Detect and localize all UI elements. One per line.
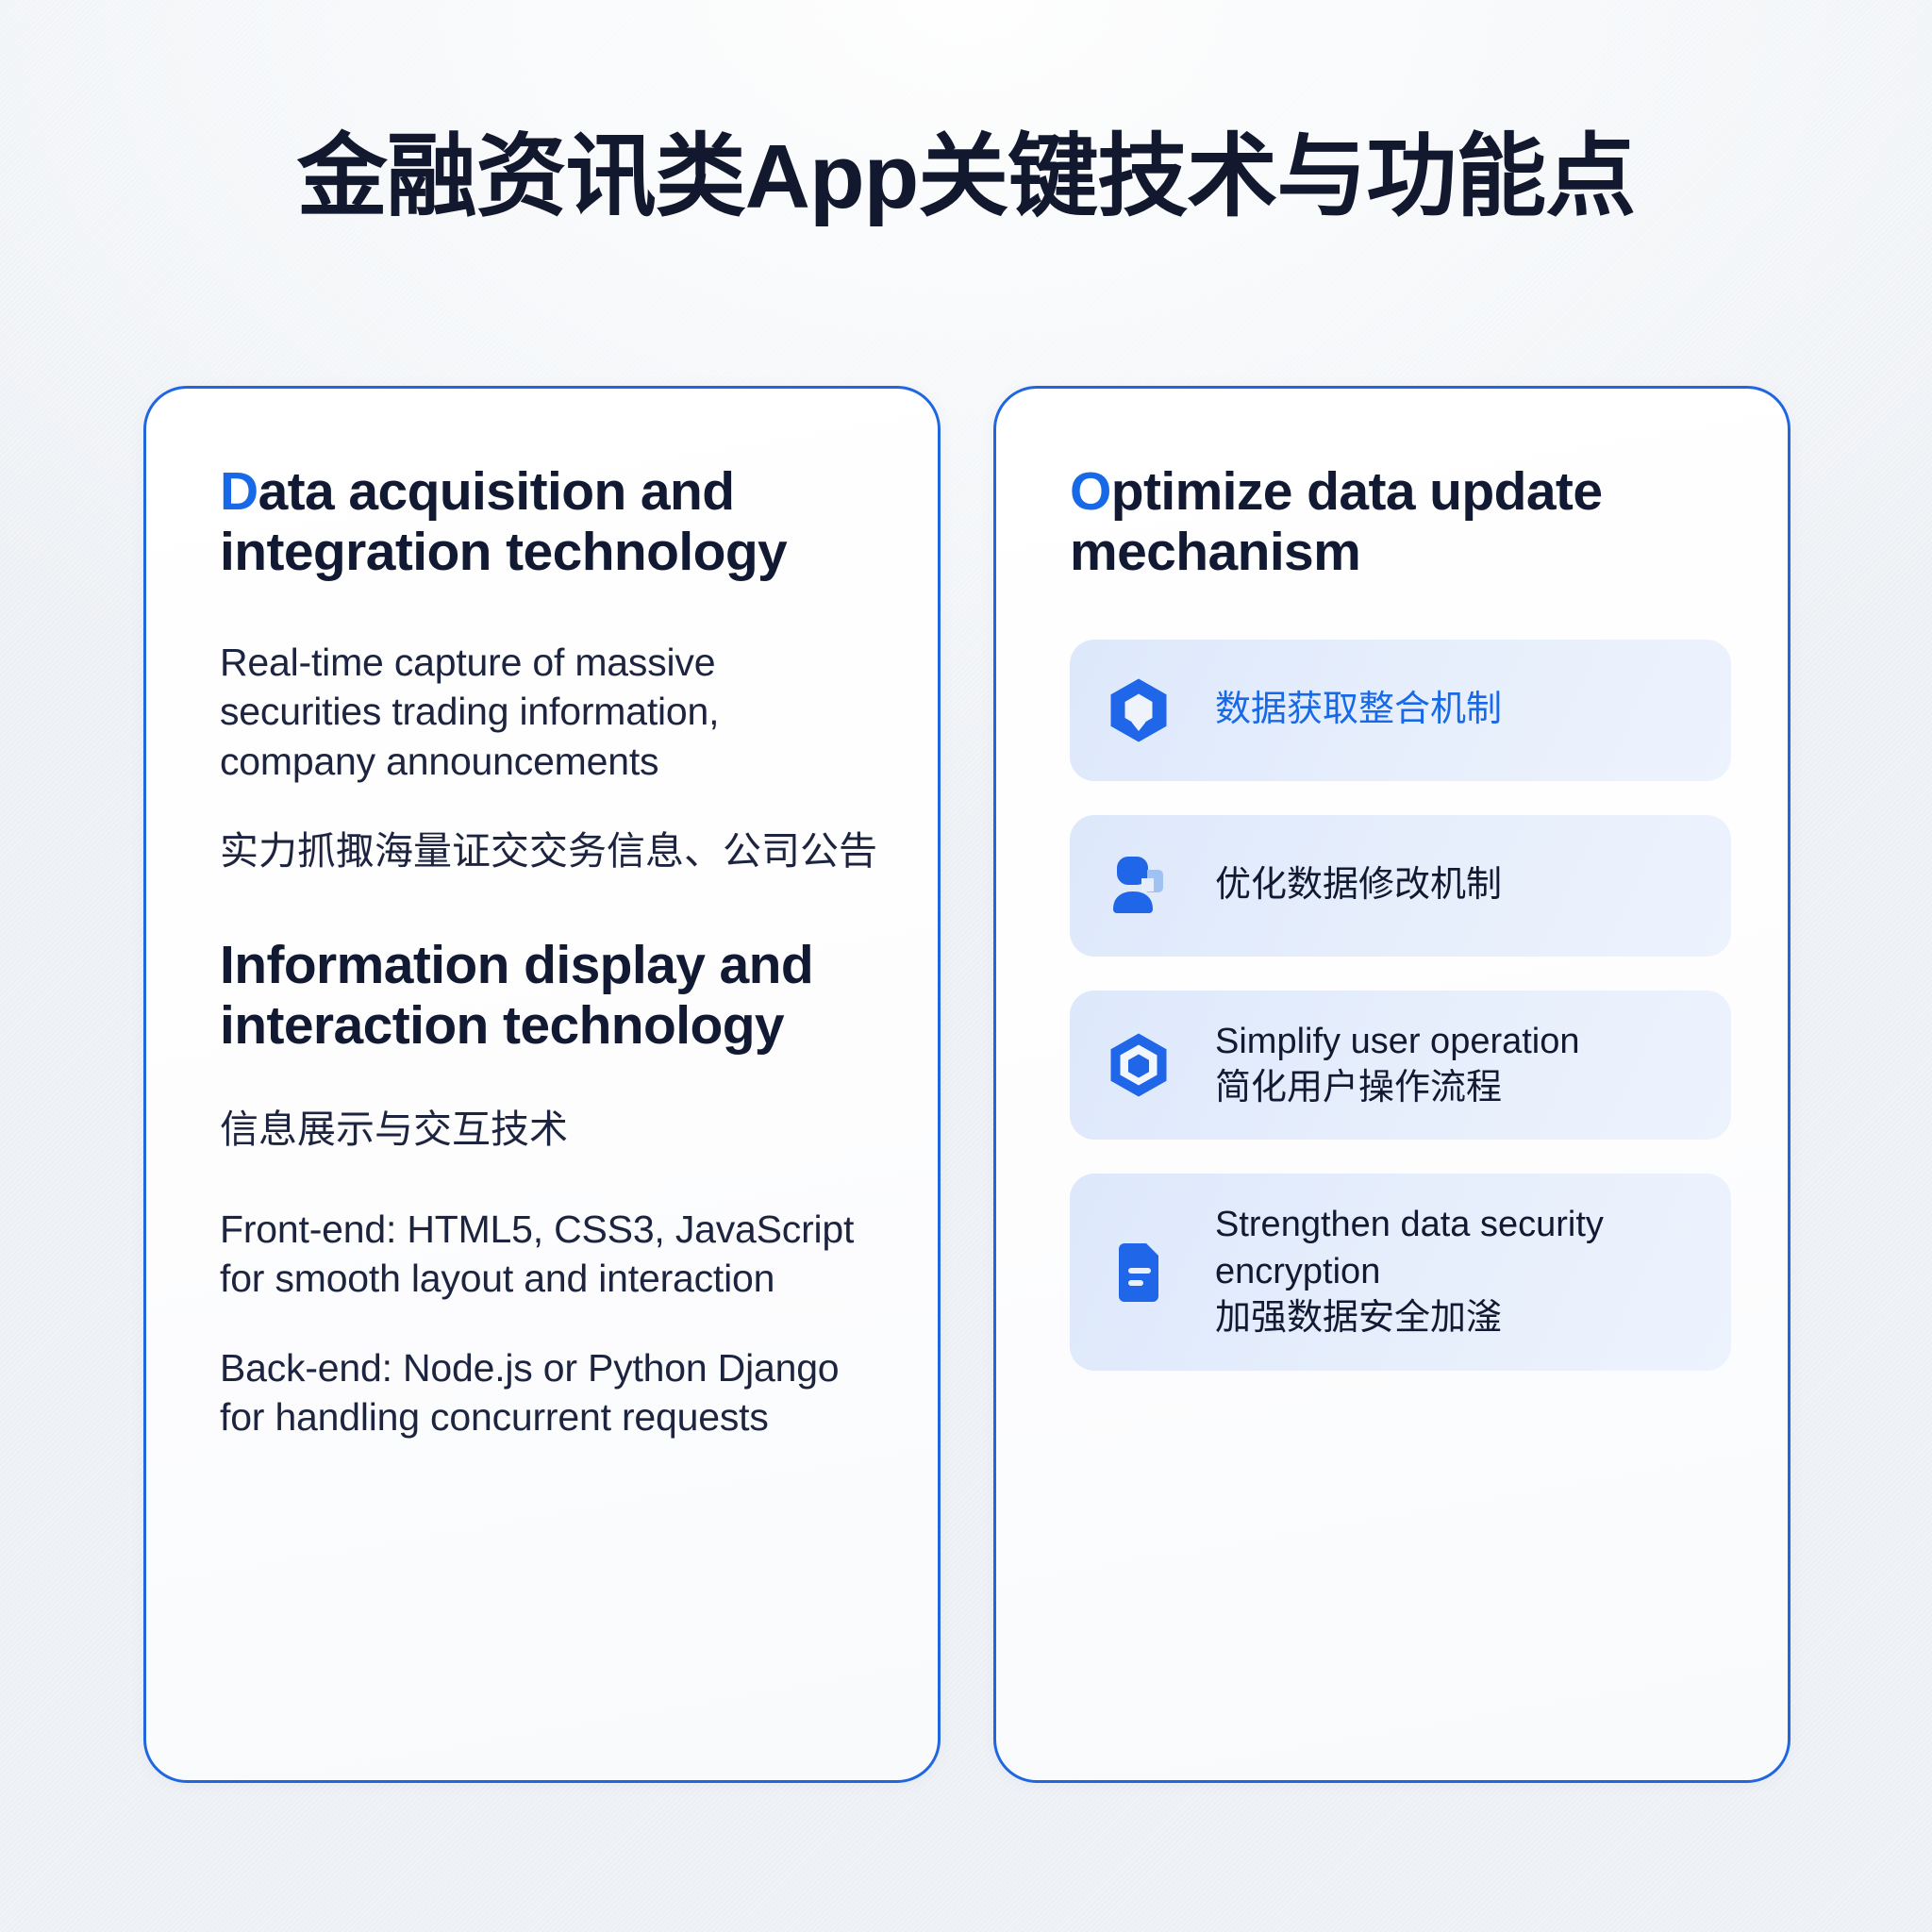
feature-item[interactable]: 优化数据修改机制 <box>1070 815 1731 957</box>
feature-item-label: 数据获取整合机制 <box>1215 687 1502 733</box>
page-title: 金融资讯类App关键技术与功能点 <box>0 125 1932 229</box>
feature-item-label: 优化数据修改机制 <box>1215 862 1502 908</box>
feature-list: 数据获取整合机制 优化数据修改机制 <box>1070 640 1731 1371</box>
infographic-page: 金融资讯类App关键技术与功能点 Data acquisition and in… <box>0 0 1932 1932</box>
feature-item-label: Strengthen data security encryption 加强数据… <box>1215 1202 1699 1341</box>
right-card: Optimize data update mechanism 数据获取整合机制 <box>993 386 1790 1783</box>
left-section1-paragraph-en: Real-time capture of massive securities … <box>220 638 881 786</box>
spacer <box>220 786 881 825</box>
spacer <box>220 1156 881 1205</box>
spacer <box>220 1057 881 1104</box>
feature-item[interactable]: Simplify user operation 简化用户操作流程 <box>1070 991 1731 1141</box>
feature-item-label: Simplify user operation 简化用户操作流程 <box>1215 1019 1580 1112</box>
feature-item-line1: Simplify user operation <box>1215 1019 1580 1065</box>
feature-item[interactable]: 数据获取整合机制 <box>1070 640 1731 781</box>
left-section2-back-end: Back-end: Node.js or Python Django for h… <box>220 1343 881 1442</box>
feature-item-line1: 数据获取整合机制 <box>1215 687 1502 733</box>
feature-item-line2: 简化用户操作流程 <box>1215 1065 1580 1111</box>
left-section2-paragraph-cn: 信息展示与交互技术 <box>220 1104 881 1156</box>
left-section2-heading: Information display and interaction tech… <box>220 936 881 1057</box>
left-section1-heading: Data acquisition and integration technol… <box>220 462 881 583</box>
hexagon-ring-icon <box>1102 1028 1175 1102</box>
spacer <box>220 1304 881 1343</box>
spacer <box>220 583 881 638</box>
feature-item-line1: 优化数据修改机制 <box>1215 862 1502 908</box>
feature-item[interactable]: Strengthen data security encryption 加强数据… <box>1070 1174 1731 1370</box>
left-card-content: Data acquisition and integration technol… <box>146 389 938 1780</box>
spacer <box>220 877 881 936</box>
left-section1-heading-rest: ata acquisition and integration technolo… <box>220 461 787 582</box>
user-profile-icon <box>1102 849 1175 923</box>
right-card-heading-rest: ptimize data update mechanism <box>1070 461 1602 582</box>
right-card-heading-capital: O <box>1070 461 1111 522</box>
feature-item-line2: 加强数据安全加滏 <box>1215 1295 1699 1341</box>
left-section1-paragraph-cn: 实力抓掫海量证交交务信息、公司公告 <box>220 825 881 877</box>
left-section1-heading-capital: D <box>220 461 258 522</box>
feature-item-line1: Strengthen data security encryption <box>1215 1202 1699 1295</box>
document-lines-icon <box>1102 1236 1175 1309</box>
right-card-content: Optimize data update mechanism 数据获取整合机制 <box>996 389 1788 1780</box>
left-card: Data acquisition and integration technol… <box>143 386 941 1783</box>
hexagon-shield-icon <box>1102 674 1175 747</box>
right-card-heading: Optimize data update mechanism <box>1070 462 1731 583</box>
left-section2-front-end: Front-end: HTML5, CSS3, JavaScript for s… <box>220 1205 881 1304</box>
